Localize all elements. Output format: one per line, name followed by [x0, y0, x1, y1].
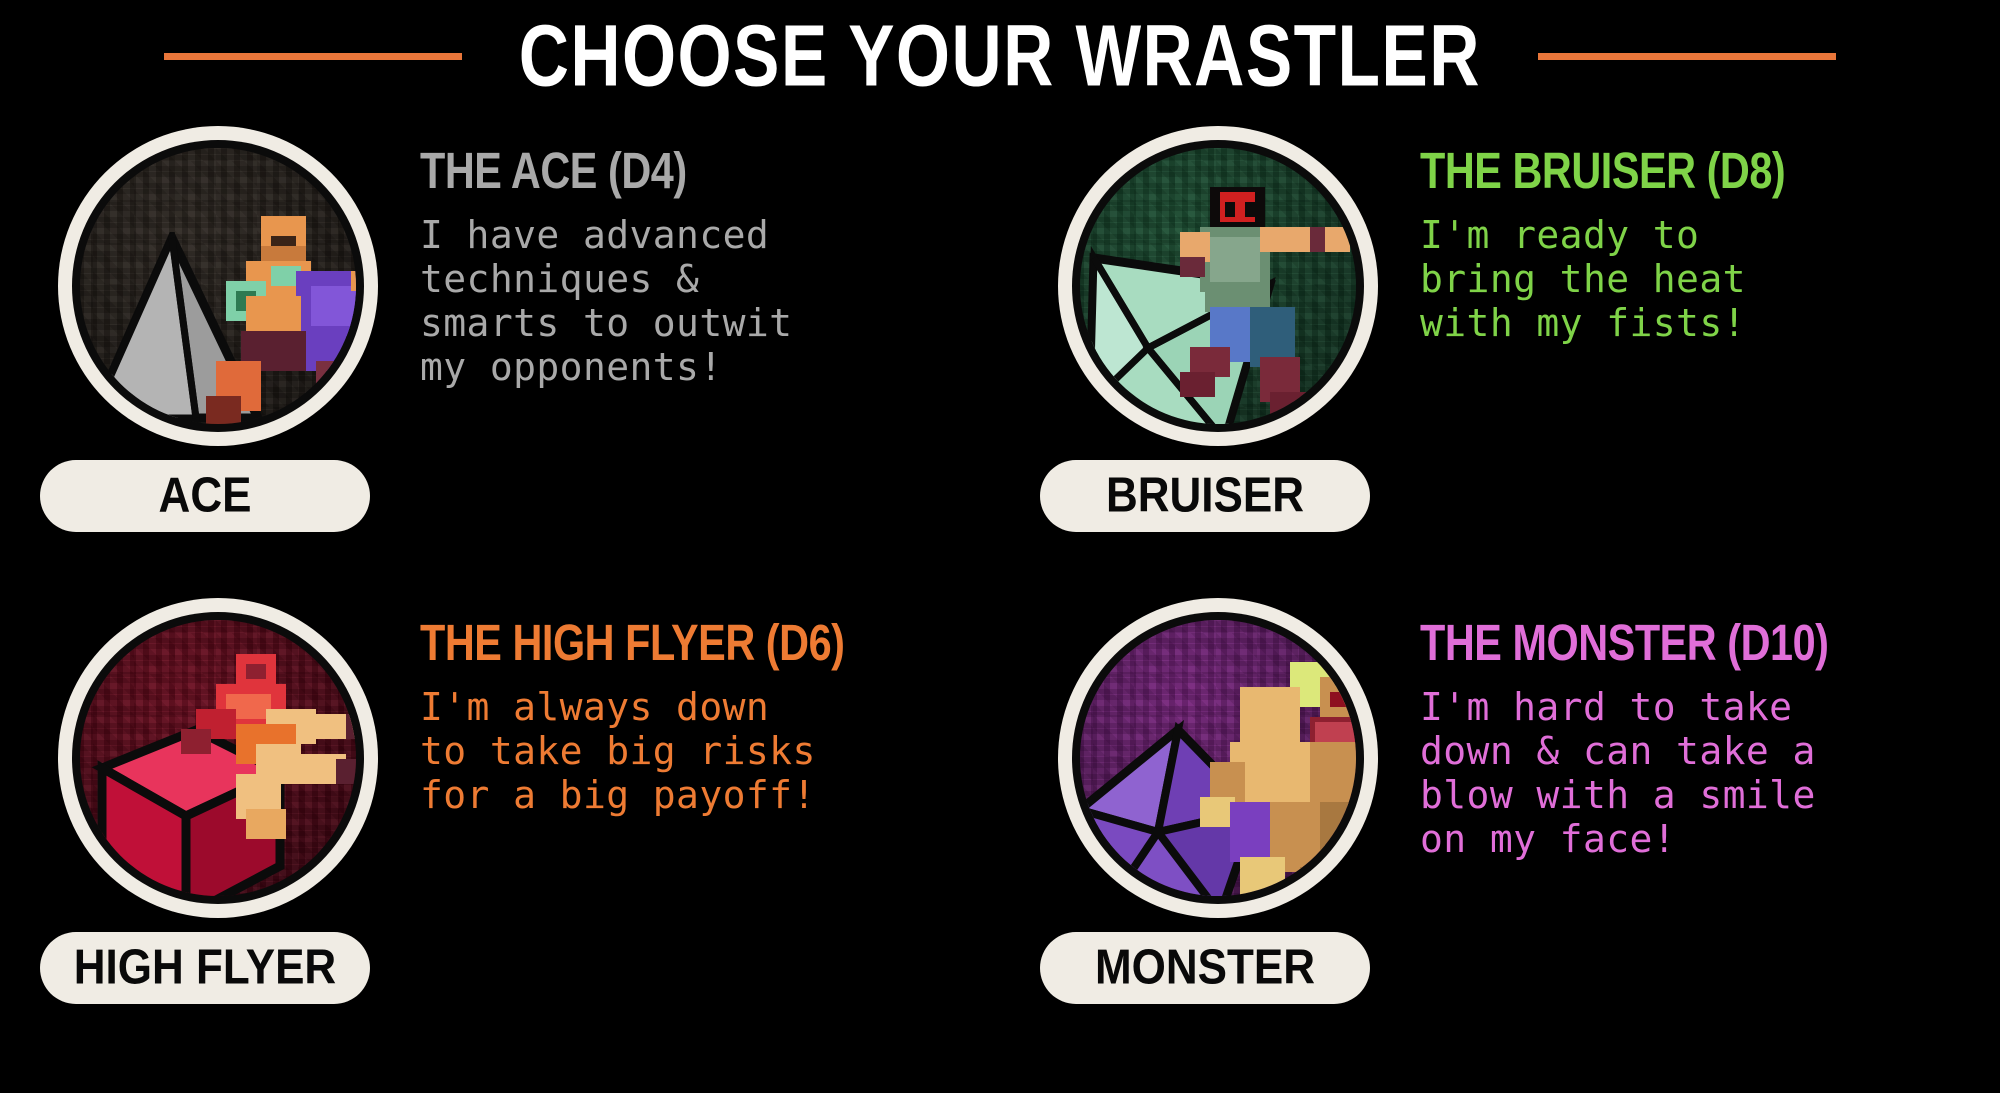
nameplate-high-flyer: HIGH FLYER	[40, 932, 370, 1004]
emblem-ace[interactable]: ACE	[40, 122, 420, 542]
quote-monster: I'm hard to take down & can take a blow …	[1420, 685, 1976, 861]
emblem-high-flyer[interactable]: HIGH FLYER	[40, 594, 420, 1014]
wrastler-card-monster[interactable]: MONSTER THE MONSTER (D10) I'm hard to ta…	[1000, 584, 2000, 1074]
heading-bruiser: THE BRUISER (D8)	[1420, 145, 1932, 196]
info-ace: THE ACE (D4) I have advanced techniques …	[420, 112, 1000, 389]
bruiser-wrestler-sprite	[1150, 172, 1356, 422]
emblem-monster[interactable]: MONSTER	[1040, 594, 1420, 1014]
wrastler-card-bruiser[interactable]: BRUISER THE BRUISER (D8) I'm ready to br…	[1000, 112, 2000, 602]
avatar-monster[interactable]	[1058, 598, 1378, 918]
nameplate-ace: ACE	[40, 460, 370, 532]
avatar-disc-monster	[1080, 620, 1356, 896]
nameplate-bruiser: BRUISER	[1040, 460, 1370, 532]
header-rule-right	[1538, 53, 1836, 60]
avatar-bruiser[interactable]	[1058, 126, 1378, 446]
info-bruiser: THE BRUISER (D8) I'm ready to bring the …	[1420, 112, 2000, 345]
wrastler-grid: ACE THE ACE (D4) I have advanced techniq…	[0, 112, 2000, 1093]
page-title: CHOOSE YOUR WRASTLER	[519, 12, 1481, 99]
nameplate-label-monster: MONSTER	[1095, 940, 1315, 996]
heading-high-flyer: THE HIGH FLYER (D6)	[420, 617, 932, 668]
quote-ace: I have advanced techniques & smarts to o…	[420, 213, 976, 389]
nameplate-label-high-flyer: HIGH FLYER	[74, 940, 336, 996]
header-rule-left	[164, 53, 462, 60]
info-monster: THE MONSTER (D10) I'm hard to take down …	[1420, 584, 2000, 861]
heading-ace: THE ACE (D4)	[420, 145, 932, 196]
high-flyer-wrestler-sprite	[176, 644, 356, 844]
ace-wrestler-sprite	[176, 206, 356, 424]
avatar-disc-high-flyer	[80, 620, 356, 896]
avatar-high-flyer[interactable]	[58, 598, 378, 918]
wrastler-card-ace[interactable]: ACE THE ACE (D4) I have advanced techniq…	[0, 112, 1000, 602]
avatar-disc-ace	[80, 148, 356, 424]
nameplate-label-ace: ACE	[159, 468, 252, 524]
info-high-flyer: THE HIGH FLYER (D6) I'm always down to t…	[420, 584, 1000, 817]
page-header: CHOOSE YOUR WRASTLER	[0, 0, 2000, 112]
avatar-ace[interactable]	[58, 126, 378, 446]
wrastler-card-high-flyer[interactable]: HIGH FLYER THE HIGH FLYER (D6) I'm alway…	[0, 584, 1000, 1074]
quote-high-flyer: I'm always down to take big risks for a …	[420, 685, 976, 817]
nameplate-label-bruiser: BRUISER	[1106, 468, 1304, 524]
heading-monster: THE MONSTER (D10)	[1420, 617, 1932, 668]
emblem-bruiser[interactable]: BRUISER	[1040, 122, 1420, 542]
nameplate-monster: MONSTER	[1040, 932, 1370, 1004]
quote-bruiser: I'm ready to bring the heat with my fist…	[1420, 213, 1976, 345]
monster-wrestler-sprite	[1190, 652, 1356, 896]
avatar-disc-bruiser	[1080, 148, 1356, 424]
